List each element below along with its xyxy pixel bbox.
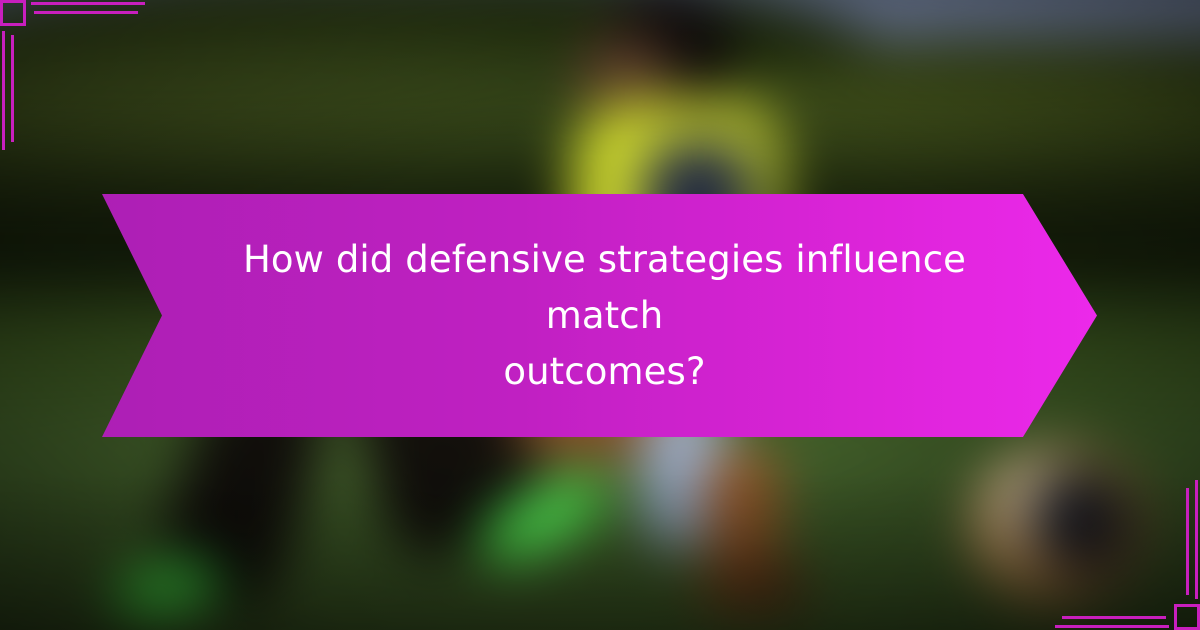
banner-canvas: How did defensive strategies influence m… — [0, 0, 1200, 630]
headline-banner: How did defensive strategies influence m… — [102, 194, 1097, 437]
headline-text: How did defensive strategies influence m… — [210, 232, 1000, 400]
